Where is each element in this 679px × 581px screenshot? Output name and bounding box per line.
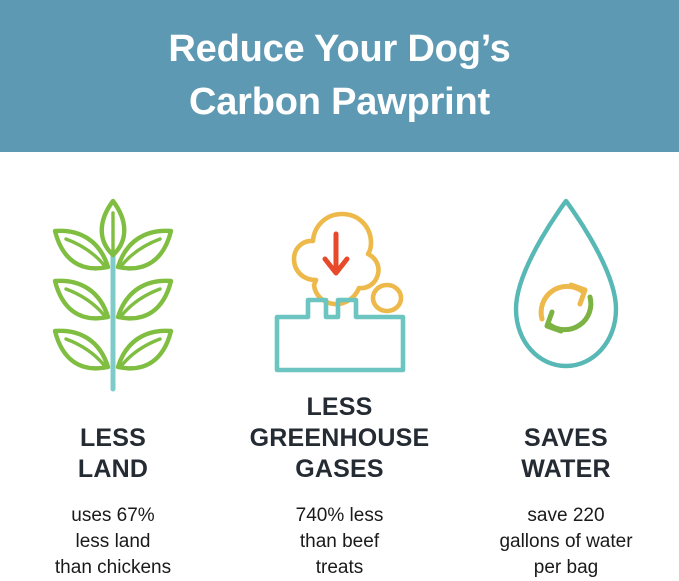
description-line-2: gallons of water	[499, 529, 632, 555]
benefit-card-less-land: LESS LAND uses 67% less land than chicke…	[0, 152, 226, 581]
water-drop-recycle-icon	[506, 152, 626, 383]
page-title-line-2: Carbon Pawprint	[189, 76, 490, 129]
benefit-description-less-greenhouse-gases: 740% less than beef treats	[296, 503, 384, 581]
description-line-2: less land	[55, 529, 171, 555]
benefit-heading-less-land: LESS LAND	[78, 423, 148, 485]
description-line-1: 740% less	[296, 503, 384, 529]
benefit-heading-saves-water: SAVES WATER	[521, 423, 610, 485]
description-line-3: treats	[296, 555, 384, 581]
benefits-row: LESS LAND uses 67% less land than chicke…	[0, 152, 679, 581]
benefit-description-saves-water: save 220 gallons of water per bag	[499, 503, 632, 581]
factory-emissions-icon	[270, 152, 410, 377]
description-line-3: than chickens	[55, 555, 171, 581]
description-line-1: save 220	[499, 503, 632, 529]
heading-line-1: SAVES	[521, 423, 610, 454]
description-line-3: per bag	[499, 555, 632, 581]
heading-line-2: WATER	[521, 454, 610, 485]
heading-line-2: GREENHOUSE	[250, 423, 430, 454]
plant-leaf-icon	[48, 152, 178, 393]
header-banner: Reduce Your Dog’s Carbon Pawprint	[0, 0, 679, 152]
heading-line-3: GASES	[250, 454, 430, 485]
heading-line-2: LAND	[78, 454, 148, 485]
benefit-card-saves-water: SAVES WATER save 220 gallons of water pe…	[453, 152, 679, 581]
benefit-heading-less-greenhouse-gases: LESS GREENHOUSE GASES	[250, 392, 430, 485]
description-line-2: than beef	[296, 529, 384, 555]
infographic-root: Reduce Your Dog’s Carbon Pawprint	[0, 0, 679, 581]
benefit-card-less-greenhouse-gases: LESS GREENHOUSE GASES 740% less than bee…	[226, 152, 453, 581]
benefit-description-less-land: uses 67% less land than chickens	[55, 503, 171, 581]
description-line-1: uses 67%	[55, 503, 171, 529]
page-title-line-1: Reduce Your Dog’s	[168, 23, 510, 76]
heading-line-1: LESS	[78, 423, 148, 454]
heading-line-1: LESS	[250, 392, 430, 423]
